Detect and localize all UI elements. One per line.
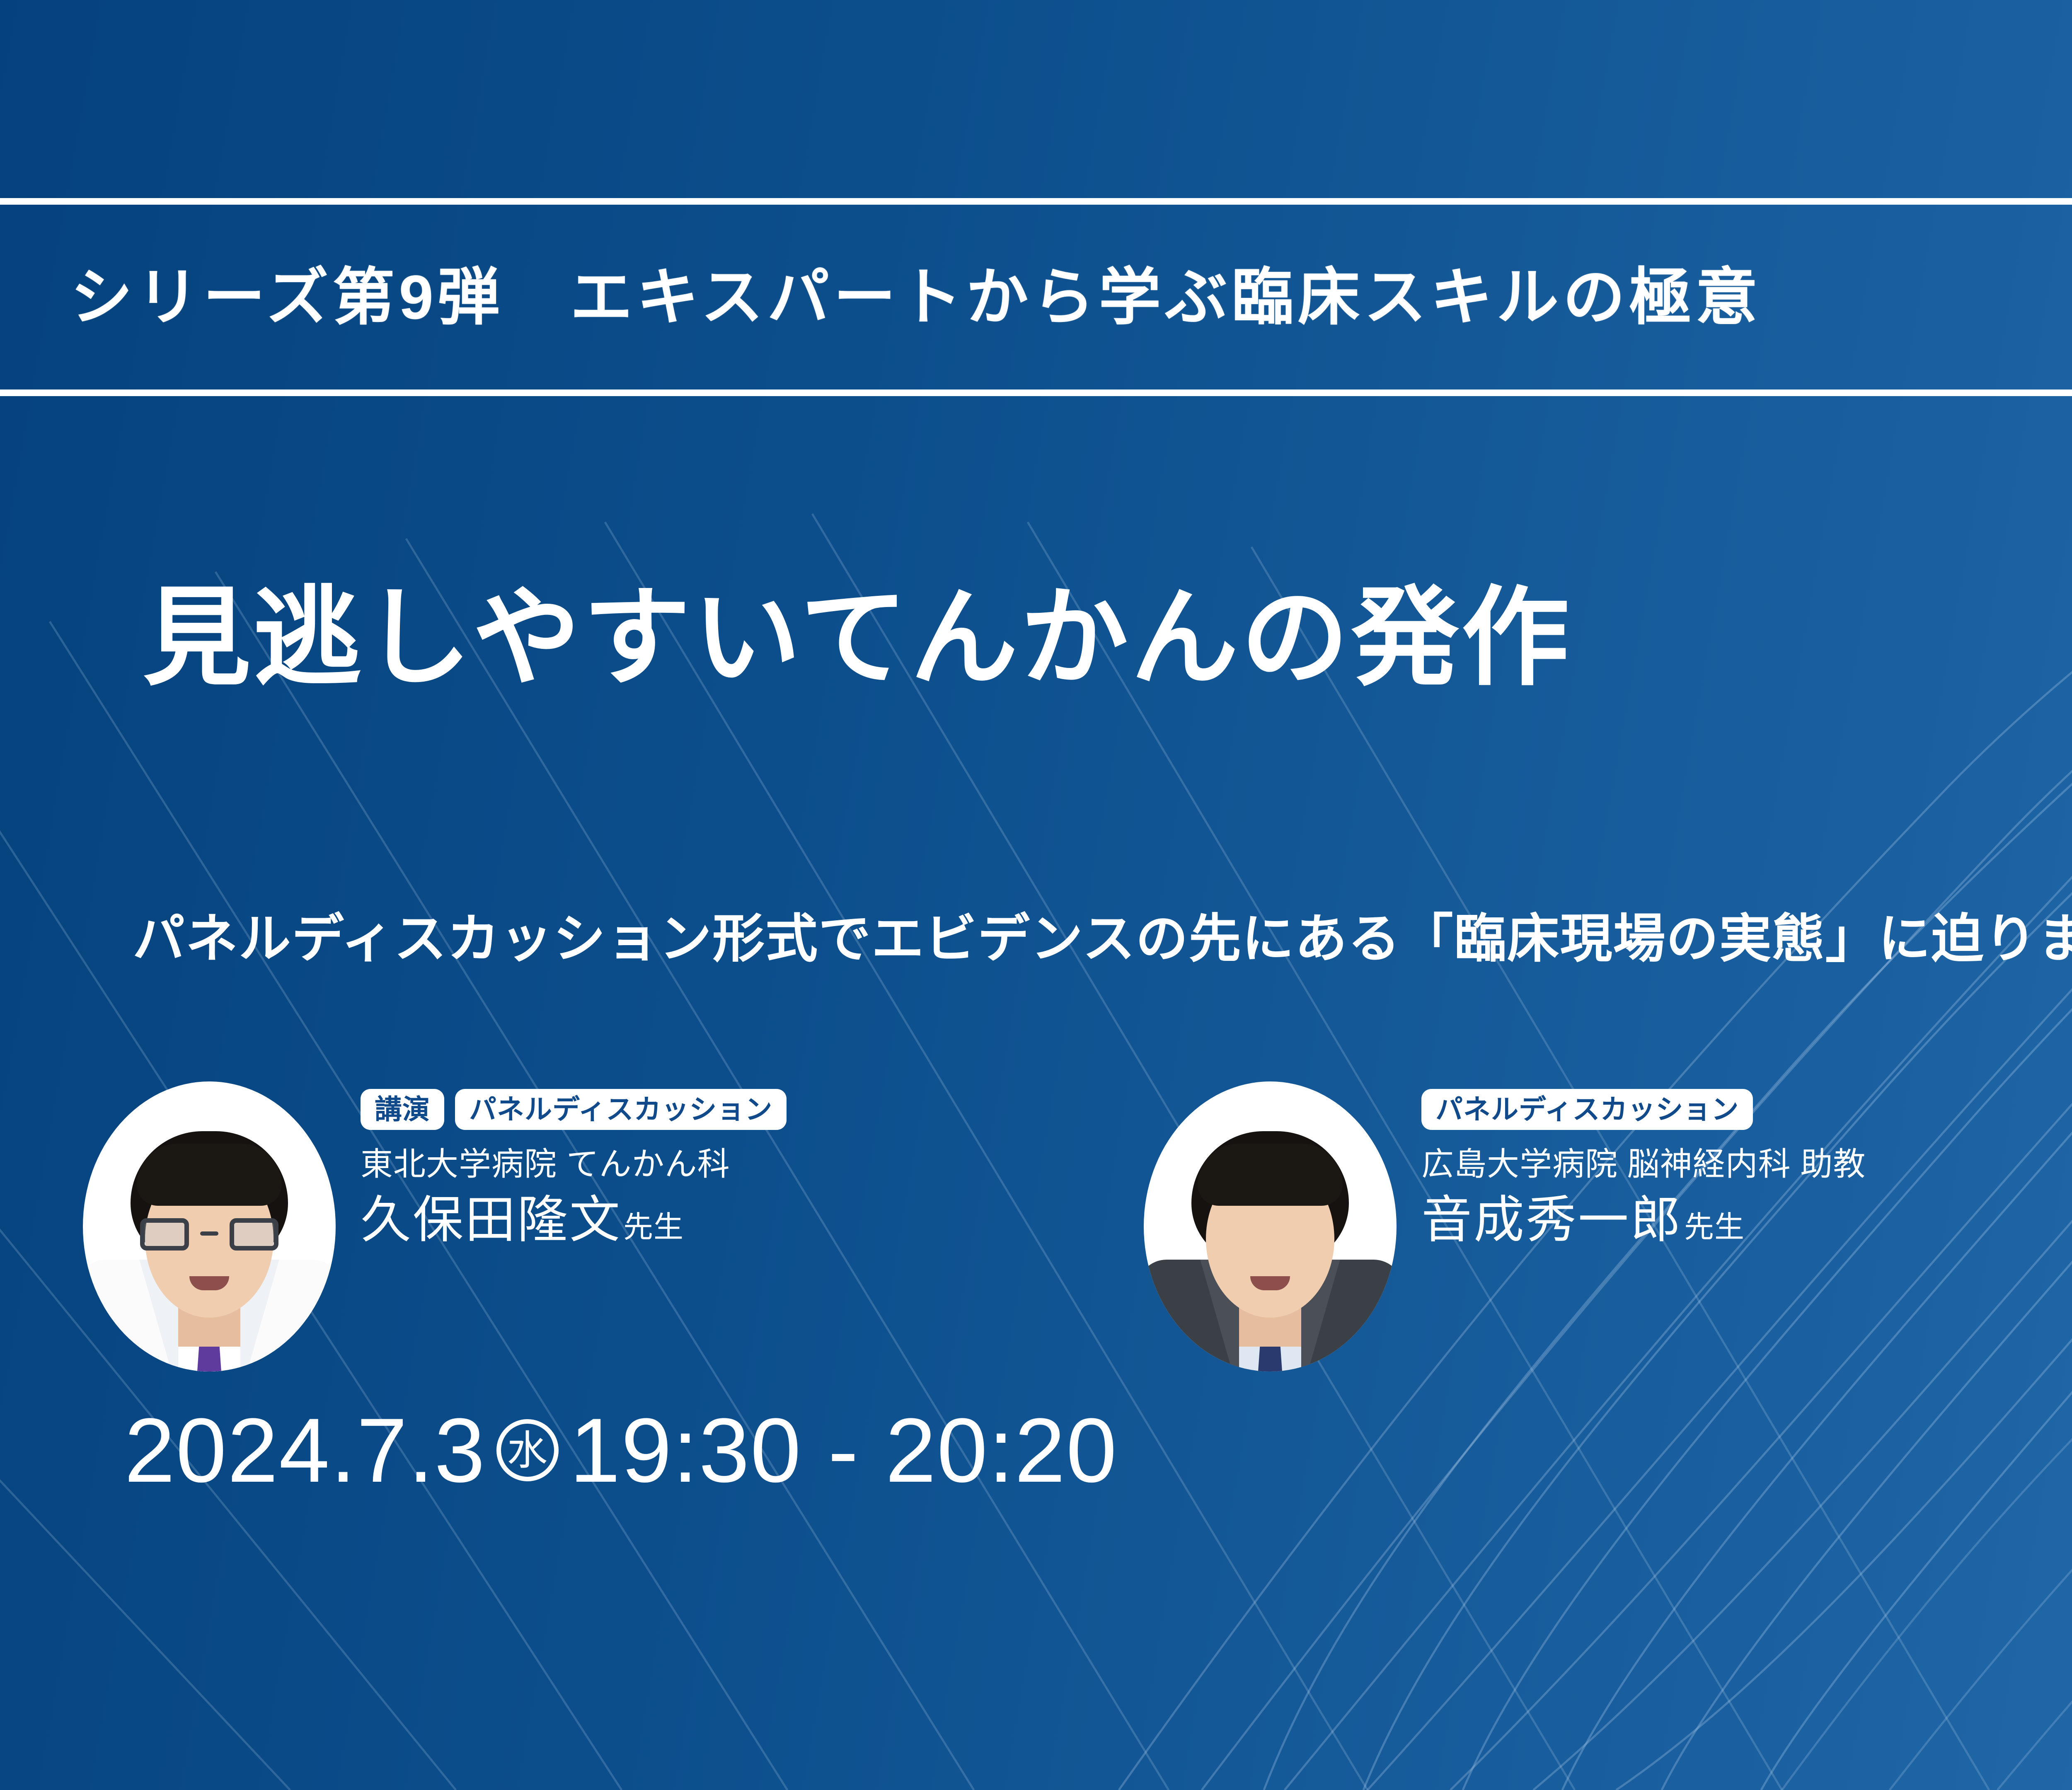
speaker-badges: パネルディスカッション bbox=[1421, 1089, 1866, 1130]
avatar bbox=[83, 1081, 336, 1372]
speaker-list: 講演 パネルディスカッション 東北大学病院 てんかん科 久保田隆文 先生 bbox=[83, 1081, 2072, 1396]
speaker-name: 久保田隆文 bbox=[361, 1192, 622, 1248]
series-banner-label: シリーズ第9弾 エキスパートから学ぶ臨床スキルの極意 bbox=[70, 266, 1762, 328]
avatar bbox=[1144, 1081, 1397, 1372]
speaker-card: パネルディスカッション 広島大学病院 脳神経内科 助教 音成秀一郎 先生 bbox=[1144, 1081, 2072, 1372]
status-badge: 講演 bbox=[361, 1089, 444, 1130]
speaker-affiliation: 広島大学病院 脳神経内科 助教 bbox=[1421, 1144, 1866, 1185]
day-of-week-badge: 水 bbox=[496, 1419, 559, 1481]
speaker-name: 音成秀一郎 bbox=[1421, 1192, 1682, 1248]
event-time: 19:30 - 20:20 bbox=[569, 1405, 1118, 1496]
status-badge: パネルディスカッション bbox=[1421, 1089, 1753, 1130]
speaker-name-row: 音成秀一郎 先生 bbox=[1421, 1192, 1866, 1248]
speaker-honorific: 先生 bbox=[623, 1202, 684, 1246]
status-badge: パネルディスカッション bbox=[455, 1089, 787, 1130]
speaker-honorific: 先生 bbox=[1684, 1202, 1745, 1246]
promo-banner-root: Medixpost シリーズ第9弾 エキスパートから学ぶ臨床スキルの極意 見逃し… bbox=[0, 0, 2072, 1790]
speaker-info: パネルディスカッション 広島大学病院 脳神経内科 助教 音成秀一郎 先生 bbox=[1397, 1081, 1866, 1248]
speaker-info: 講演 パネルディスカッション 東北大学病院 てんかん科 久保田隆文 先生 bbox=[336, 1081, 787, 1248]
event-date: 2024.7.3 bbox=[124, 1405, 486, 1496]
speaker-card: 講演 パネルディスカッション 東北大学病院 てんかん科 久保田隆文 先生 bbox=[83, 1081, 1144, 1372]
series-banner: シリーズ第9弾 エキスパートから学ぶ臨床スキルの極意 bbox=[0, 198, 2072, 396]
event-datetime: 2024.7.3 水 19:30 - 20:20 bbox=[124, 1405, 1118, 1496]
speaker-name-row: 久保田隆文 先生 bbox=[361, 1192, 787, 1248]
page-title: 見逃しやすいてんかんの発作 bbox=[143, 578, 1572, 699]
lead-description: パネルディスカッション形式でエビデンスの先にある「臨床現場の実態」に迫ります！ bbox=[133, 907, 2072, 970]
speaker-affiliation: 東北大学病院 てんかん科 bbox=[361, 1144, 787, 1185]
speaker-badges: 講演 パネルディスカッション bbox=[361, 1089, 787, 1130]
